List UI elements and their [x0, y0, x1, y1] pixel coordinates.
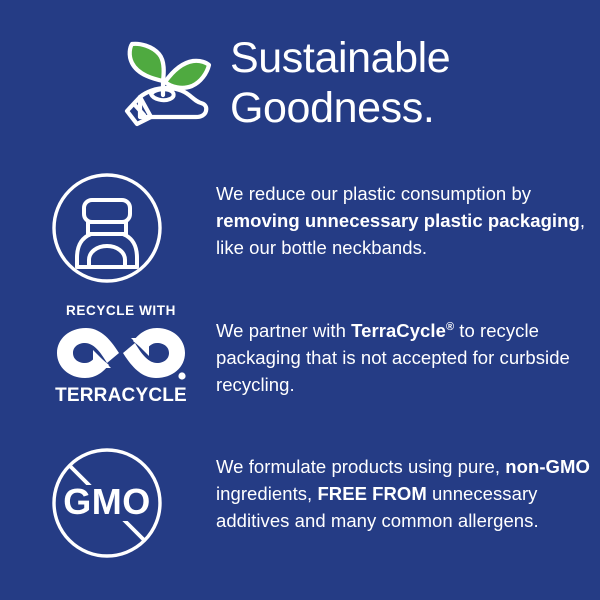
- benefit-row-gmo: GMO GMO We formulate products using pure…: [0, 447, 600, 577]
- icon-cell: [0, 172, 216, 284]
- terracycle-wordmark: TERRACYCLE: [55, 385, 187, 406]
- text-run: We reduce our plastic consumption by: [216, 183, 531, 204]
- text-run-bold: FREE FROM: [317, 483, 426, 504]
- text-cell: We formulate products using pure, non-GM…: [216, 447, 600, 534]
- benefit-row-terracycle: RECYCLE WITH TERRACYCLE We partner with …: [0, 303, 600, 407]
- text-cell: We partner with TerraCycle® to recycle p…: [216, 303, 600, 398]
- text-run: We formulate products using pure,: [216, 456, 505, 477]
- benefit-row-plastic: We reduce our plastic consumption by rem…: [0, 172, 600, 284]
- icon-cell: GMO GMO: [0, 447, 216, 577]
- infinity-arrows-icon: [53, 322, 189, 384]
- text-run: ingredients,: [216, 483, 317, 504]
- no-gmo-circle-icon: GMO: [51, 447, 163, 559]
- text-run-bold: non-GMO: [505, 456, 590, 477]
- benefit-text-plastic: We reduce our plastic consumption by rem…: [216, 180, 600, 261]
- terracycle-bottom-label: TERRACYCLE: [51, 385, 191, 407]
- text-run-bold: removing unnecessary plastic packaging: [216, 210, 580, 231]
- registered-mark: ®: [446, 321, 454, 333]
- text-cell: We reduce our plastic consumption by rem…: [216, 172, 600, 261]
- svg-text:GMO: GMO: [63, 481, 151, 522]
- page-title: Sustainable Goodness.: [230, 33, 450, 133]
- icon-cell: RECYCLE WITH TERRACYCLE: [0, 303, 216, 407]
- terracycle-top-label: RECYCLE WITH: [51, 303, 191, 319]
- hand-holding-sprout-icon: [118, 35, 218, 135]
- bottle-neck-circle-icon: [51, 172, 163, 284]
- header: Sustainable Goodness.: [0, 24, 600, 142]
- terracycle-logo: RECYCLE WITH TERRACYCLE: [51, 303, 191, 407]
- text-run-bold: TerraCycle: [351, 320, 446, 341]
- benefit-text-gmo: We formulate products using pure, non-GM…: [216, 453, 600, 534]
- benefit-text-terracycle: We partner with TerraCycle® to recycle p…: [216, 317, 600, 398]
- text-run: We partner with: [216, 320, 351, 341]
